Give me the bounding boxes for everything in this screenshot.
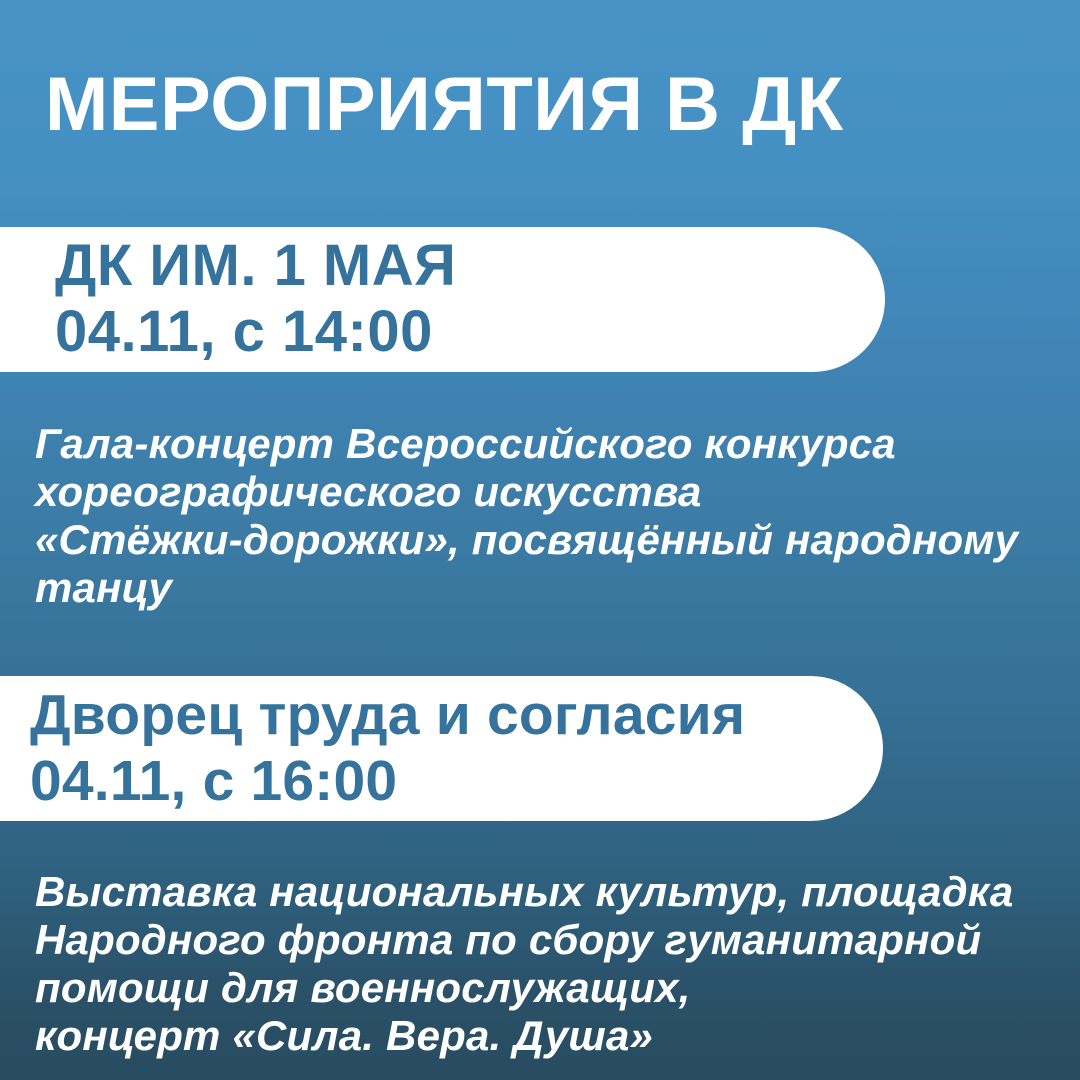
description-line: Народного фронта по сбору гуманитарной	[35, 916, 935, 964]
event-datetime-1: 04.11, с 14:00	[55, 299, 885, 365]
page-title: МЕРОПРИЯТИЯ В ДК	[45, 62, 844, 148]
event-description-1: Гала-концерт Всероссийского конкурса хор…	[35, 420, 935, 612]
description-line: концерт «Сила. Вера. Душа»	[35, 1012, 935, 1060]
description-line: Гала-концерт Всероссийского конкурса	[35, 420, 935, 468]
description-line: Выставка национальных культур, площадка	[35, 868, 935, 916]
description-line: хореографического искусства	[35, 468, 935, 516]
event-venue-1: ДК ИМ. 1 МАЯ	[55, 233, 885, 299]
description-line: танцу	[35, 564, 935, 612]
poster-canvas: МЕРОПРИЯТИЯ В ДК ДК ИМ. 1 МАЯ 04.11, с 1…	[0, 0, 1080, 1080]
event-card-2: Дворец труда и согласия 04.11, с 16:00	[0, 676, 883, 821]
event-datetime-2: 04.11, с 16:00	[30, 748, 883, 814]
description-line: помощи для военнослужащих,	[35, 964, 935, 1012]
event-card-1: ДК ИМ. 1 МАЯ 04.11, с 14:00	[0, 227, 885, 372]
event-description-2: Выставка национальных культур, площадка …	[35, 868, 935, 1060]
description-line: «Стёжки-дорожки», посвящённый народному	[35, 516, 935, 564]
event-venue-2: Дворец труда и согласия	[30, 682, 883, 748]
